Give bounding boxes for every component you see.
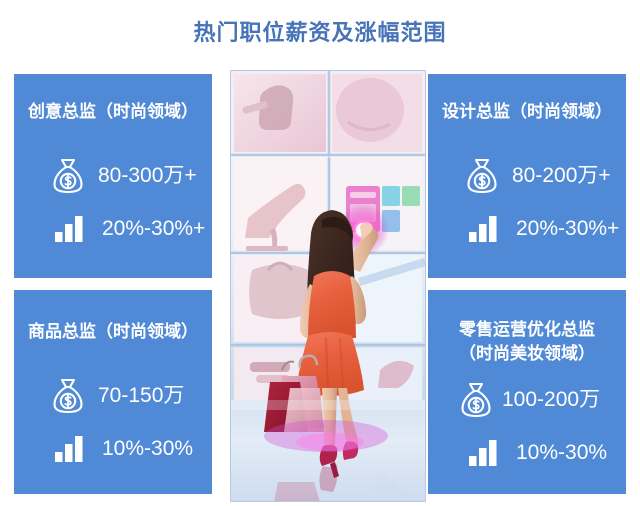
card-title: 商品总监（时尚领域） bbox=[14, 320, 212, 344]
infographic-page: 热门职位薪资及涨幅范围 bbox=[0, 0, 640, 506]
card-title: 设计总监（时尚领域） bbox=[428, 100, 626, 124]
card-merchandise-director[interactable]: 商品总监（时尚领域） 70-150万 bbox=[14, 290, 212, 494]
card-title: 创意总监（时尚领域） bbox=[14, 100, 212, 124]
center-photo bbox=[230, 70, 426, 502]
card-design-director[interactable]: 设计总监（时尚领域） 80-200万+ bbox=[428, 74, 626, 278]
salary-row: 70-150万 bbox=[48, 374, 184, 418]
growth-value: 10%-30% bbox=[102, 437, 193, 461]
card-title: 零售运营优化总监 （时尚美妆领域） bbox=[428, 318, 626, 366]
growth-row: 10%-30% bbox=[466, 431, 607, 475]
bar-chart-icon bbox=[52, 214, 86, 244]
salary-row: 80-200万+ bbox=[462, 154, 611, 198]
card-title-line-2: （时尚美妆领域） bbox=[428, 342, 626, 366]
salary-value: 70-150万 bbox=[98, 384, 184, 408]
salary-value: 80-300万+ bbox=[98, 164, 197, 188]
growth-row: 20%-30%+ bbox=[466, 207, 619, 251]
money-bag-icon bbox=[48, 375, 88, 417]
salary-row: 100-200万 bbox=[456, 378, 600, 422]
growth-row: 20%-30%+ bbox=[52, 207, 205, 251]
cards-grid: 创意总监（时尚领域） 80-300万+ bbox=[14, 74, 626, 494]
growth-value: 10%-30% bbox=[516, 441, 607, 465]
salary-value: 100-200万 bbox=[502, 388, 600, 412]
salary-row: 80-300万+ bbox=[48, 154, 197, 198]
money-bag-icon bbox=[48, 155, 88, 197]
money-bag-icon bbox=[462, 155, 502, 197]
page-title: 热门职位薪资及涨幅范围 bbox=[0, 18, 640, 48]
card-creative-director[interactable]: 创意总监（时尚领域） 80-300万+ bbox=[14, 74, 212, 278]
bar-chart-icon bbox=[466, 438, 500, 468]
growth-row: 10%-30% bbox=[52, 427, 193, 471]
card-retail-operations-director[interactable]: 零售运营优化总监 （时尚美妆领域） 100-200万 bbox=[428, 290, 626, 494]
bar-chart-icon bbox=[466, 214, 500, 244]
growth-value: 20%-30%+ bbox=[516, 217, 619, 241]
money-bag-icon bbox=[456, 379, 496, 421]
growth-value: 20%-30%+ bbox=[102, 217, 205, 241]
salary-value: 80-200万+ bbox=[512, 164, 611, 188]
bar-chart-icon bbox=[52, 434, 86, 464]
card-title-line-1: 零售运营优化总监 bbox=[428, 318, 626, 342]
